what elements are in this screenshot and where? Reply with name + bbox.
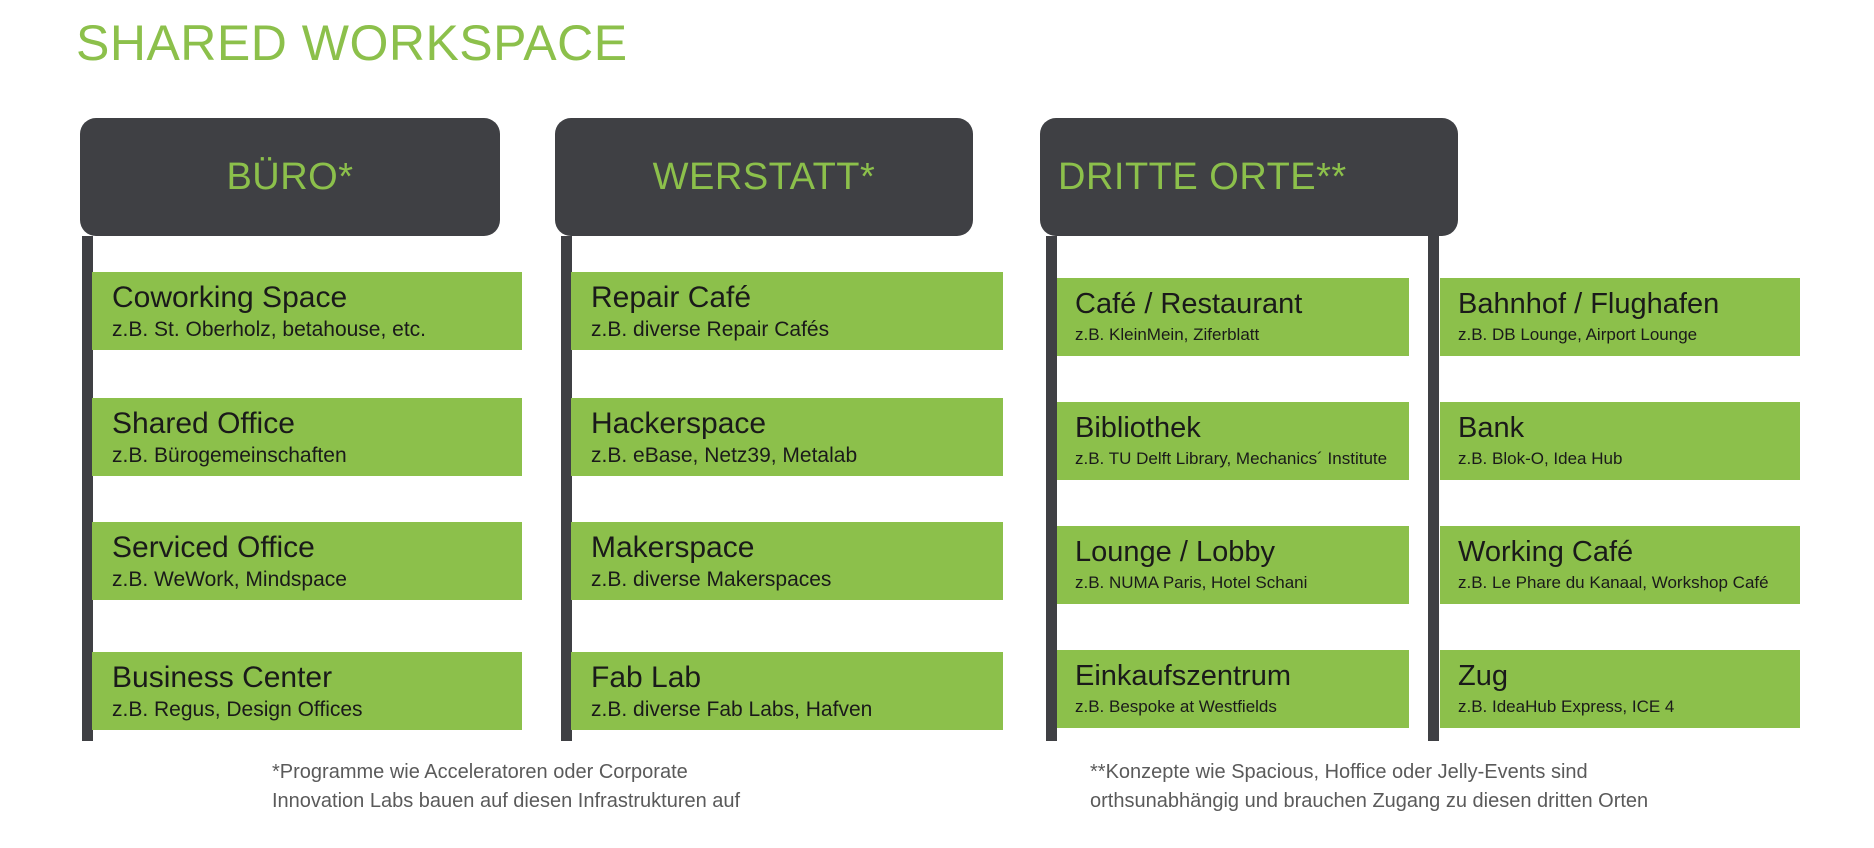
item-title: Repair Café	[591, 281, 1003, 314]
item-examples: z.B. Bürogemeinschaften	[112, 443, 522, 468]
column-header-label: DRITTE ORTE**	[1052, 156, 1347, 199]
item-examples: z.B. diverse Makerspaces	[591, 567, 1003, 592]
column-header-label: BÜRO*	[226, 156, 353, 199]
item-title: Fab Lab	[591, 661, 1003, 694]
item-title: Makerspace	[591, 531, 1003, 564]
column-header-label: WERSTATT*	[653, 156, 876, 199]
item-examples: z.B. IdeaHub Express, ICE 4	[1458, 697, 1800, 717]
list-item[interactable]: Lounge / Lobby z.B. NUMA Paris, Hotel Sc…	[1057, 526, 1409, 604]
list-item[interactable]: Hackerspace z.B. eBase, Netz39, Metalab	[571, 398, 1003, 476]
item-examples: z.B. St. Oberholz, betahouse, etc.	[112, 317, 522, 342]
item-title: Bahnhof / Flughafen	[1458, 289, 1800, 321]
connector-stem-dritte-orte-right	[1428, 236, 1439, 741]
item-examples: z.B. TU Delft Library, Mechanics´ Instit…	[1075, 449, 1409, 469]
item-title: Business Center	[112, 661, 522, 694]
item-title: Zug	[1458, 661, 1800, 693]
list-item[interactable]: Bibliothek z.B. TU Delft Library, Mechan…	[1057, 402, 1409, 480]
item-examples: z.B. DB Lounge, Airport Lounge	[1458, 325, 1800, 345]
footnote-double-star: **Konzepte wie Spacious, Hoffice oder Je…	[1090, 758, 1648, 816]
item-examples: z.B. Blok-O, Idea Hub	[1458, 449, 1800, 469]
item-title: Hackerspace	[591, 407, 1003, 440]
list-item[interactable]: Repair Café z.B. diverse Repair Cafés	[571, 272, 1003, 350]
item-examples: z.B. Le Phare du Kanaal, Workshop Café	[1458, 573, 1800, 593]
list-item[interactable]: Einkaufszentrum z.B. Bespoke at Westfiel…	[1057, 650, 1409, 728]
item-examples: z.B. Regus, Design Offices	[112, 697, 522, 722]
column-header-werstatt: WERSTATT*	[555, 118, 973, 236]
item-title: Shared Office	[112, 407, 522, 440]
item-examples: z.B. Bespoke at Westfields	[1075, 697, 1409, 717]
page-title: SHARED WORKSPACE	[76, 14, 628, 72]
list-item[interactable]: Serviced Office z.B. WeWork, Mindspace	[92, 522, 522, 600]
list-item[interactable]: Fab Lab z.B. diverse Fab Labs, Hafven	[571, 652, 1003, 730]
list-item[interactable]: Café / Restaurant z.B. KleinMein, Ziferb…	[1057, 278, 1409, 356]
list-item[interactable]: Makerspace z.B. diverse Makerspaces	[571, 522, 1003, 600]
column-header-buero: BÜRO*	[80, 118, 500, 236]
item-examples: z.B. eBase, Netz39, Metalab	[591, 443, 1003, 468]
list-item[interactable]: Coworking Space z.B. St. Oberholz, betah…	[92, 272, 522, 350]
item-title: Einkaufszentrum	[1075, 661, 1409, 693]
item-examples: z.B. diverse Fab Labs, Hafven	[591, 697, 1003, 722]
item-title: Serviced Office	[112, 531, 522, 564]
item-examples: z.B. NUMA Paris, Hotel Schani	[1075, 573, 1409, 593]
list-item[interactable]: Working Café z.B. Le Phare du Kanaal, Wo…	[1440, 526, 1800, 604]
item-title: Bibliothek	[1075, 413, 1409, 445]
list-item[interactable]: Bahnhof / Flughafen z.B. DB Lounge, Airp…	[1440, 278, 1800, 356]
item-examples: z.B. diverse Repair Cafés	[591, 317, 1003, 342]
item-title: Working Café	[1458, 537, 1800, 569]
list-item[interactable]: Business Center z.B. Regus, Design Offic…	[92, 652, 522, 730]
item-examples: z.B. KleinMein, Ziferblatt	[1075, 325, 1409, 345]
item-title: Bank	[1458, 413, 1800, 445]
column-header-dritte-orte: DRITTE ORTE**	[1040, 118, 1458, 236]
item-title: Coworking Space	[112, 281, 522, 314]
list-item[interactable]: Bank z.B. Blok-O, Idea Hub	[1440, 402, 1800, 480]
connector-stem-dritte-orte-left	[1046, 236, 1057, 741]
list-item[interactable]: Zug z.B. IdeaHub Express, ICE 4	[1440, 650, 1800, 728]
footnote-single-star: *Programme wie Acceleratoren oder Corpor…	[272, 758, 740, 816]
item-title: Café / Restaurant	[1075, 289, 1409, 321]
list-item[interactable]: Shared Office z.B. Bürogemeinschaften	[92, 398, 522, 476]
diagram-canvas: SHARED WORKSPACE BÜRO* WERSTATT* DRITTE …	[0, 0, 1874, 848]
item-examples: z.B. WeWork, Mindspace	[112, 567, 522, 592]
item-title: Lounge / Lobby	[1075, 537, 1409, 569]
